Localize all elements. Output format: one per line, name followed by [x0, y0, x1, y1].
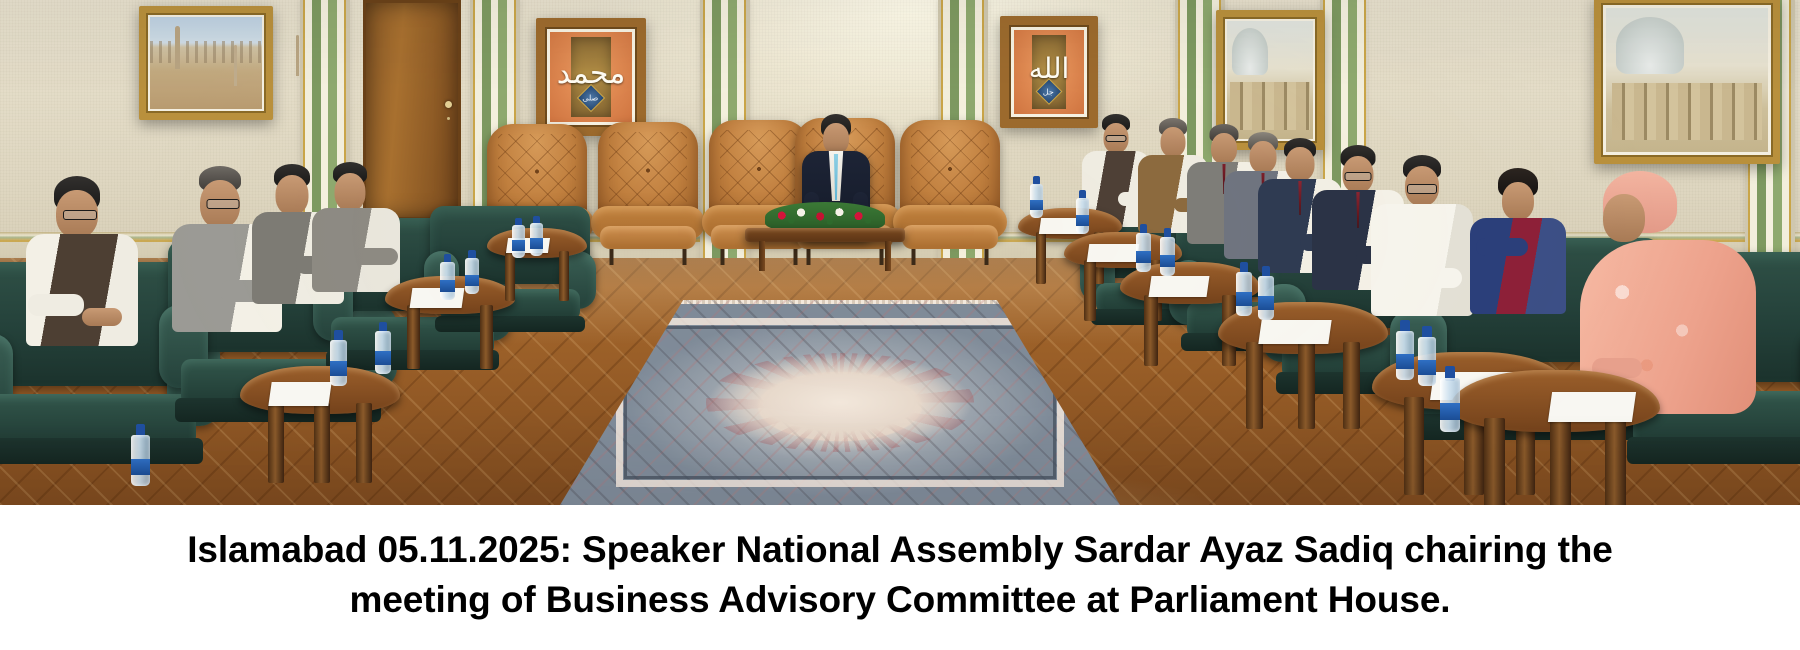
calligraphy-allah: الله جل	[1000, 16, 1098, 128]
meeting-photograph: محمد صلى الله جل	[0, 0, 1800, 505]
side-table-right-4	[1218, 302, 1388, 420]
calligraphy-muhammad: محمد صلى	[536, 18, 646, 136]
document-paper	[410, 288, 465, 308]
water-bottle	[131, 424, 150, 486]
document-paper	[1087, 244, 1140, 262]
water-bottle	[330, 330, 347, 386]
water-bottle	[1136, 224, 1151, 272]
water-bottle	[512, 218, 525, 258]
calligraphy-medallion-glyph: جل	[1040, 82, 1057, 101]
document-paper	[1149, 276, 1210, 297]
water-bottle	[1418, 326, 1436, 386]
caption-line-2: meeting of Business Advisory Committee a…	[350, 575, 1451, 624]
document-paper	[1258, 320, 1331, 344]
water-bottle	[1236, 262, 1252, 316]
cityscape-painting-left	[139, 6, 273, 120]
document-paper	[1548, 392, 1636, 422]
water-bottle	[440, 254, 455, 300]
water-bottle	[1258, 266, 1274, 320]
caption-line-1: Islamabad 05.11.2025: Speaker National A…	[187, 525, 1613, 574]
coffee-table	[745, 228, 905, 270]
wing-chair-2	[598, 122, 698, 262]
water-bottle	[375, 322, 391, 374]
wing-chair-5	[900, 120, 1000, 262]
water-bottle	[1440, 366, 1460, 432]
document-paper	[268, 382, 331, 406]
side-table-right-6	[1450, 370, 1660, 505]
water-bottle	[1030, 176, 1043, 218]
water-bottle	[465, 250, 479, 294]
shrine-painting-right-outer	[1594, 0, 1780, 164]
water-bottle	[1396, 320, 1414, 380]
water-bottle	[1076, 190, 1089, 234]
news-photo-page: محمد صلى الله جل	[0, 0, 1800, 650]
water-bottle	[1160, 228, 1175, 276]
photo-caption: Islamabad 05.11.2025: Speaker National A…	[0, 505, 1800, 650]
calligraphy-medallion-glyph: صلى	[581, 88, 599, 108]
water-bottle	[530, 216, 543, 256]
attendee-right-8	[1468, 172, 1568, 322]
side-table-left-1	[240, 366, 400, 474]
attendee-left-1	[22, 182, 142, 372]
